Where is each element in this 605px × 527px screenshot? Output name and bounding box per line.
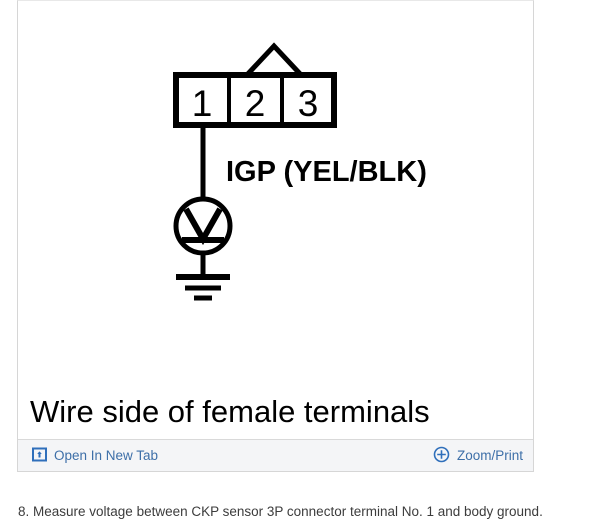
diagram-caption: Wire side of female terminals [30, 394, 430, 429]
open-in-new-tab-icon [32, 447, 47, 465]
terminal-number-2: 2 [245, 83, 266, 124]
terminal-number-3: 3 [298, 83, 319, 124]
step-instruction-text: 8. Measure voltage between CKP sensor 3P… [18, 503, 598, 521]
terminal-number-1: 1 [192, 83, 213, 124]
zoom-print-label: Zoom/Print [457, 449, 523, 463]
viewer-toolbar: Open In New Tab Zoom/Print [18, 439, 533, 471]
wire-label: IGP (YEL/BLK) [226, 156, 427, 188]
wiring-diagram[interactable]: 1 2 3 IGP (YEL/BLK) Wire side of female … [18, 1, 533, 439]
wiring-diagram-svg: 1 2 3 IGP (YEL/BLK) Wire side of female … [18, 1, 533, 439]
zoom-plus-circle-icon [433, 446, 450, 466]
open-in-new-tab-button[interactable]: Open In New Tab [30, 445, 160, 467]
zoom-print-button[interactable]: Zoom/Print [431, 444, 525, 468]
open-in-new-tab-label: Open In New Tab [54, 449, 158, 463]
image-viewer-panel: 1 2 3 IGP (YEL/BLK) Wire side of female … [17, 0, 534, 472]
